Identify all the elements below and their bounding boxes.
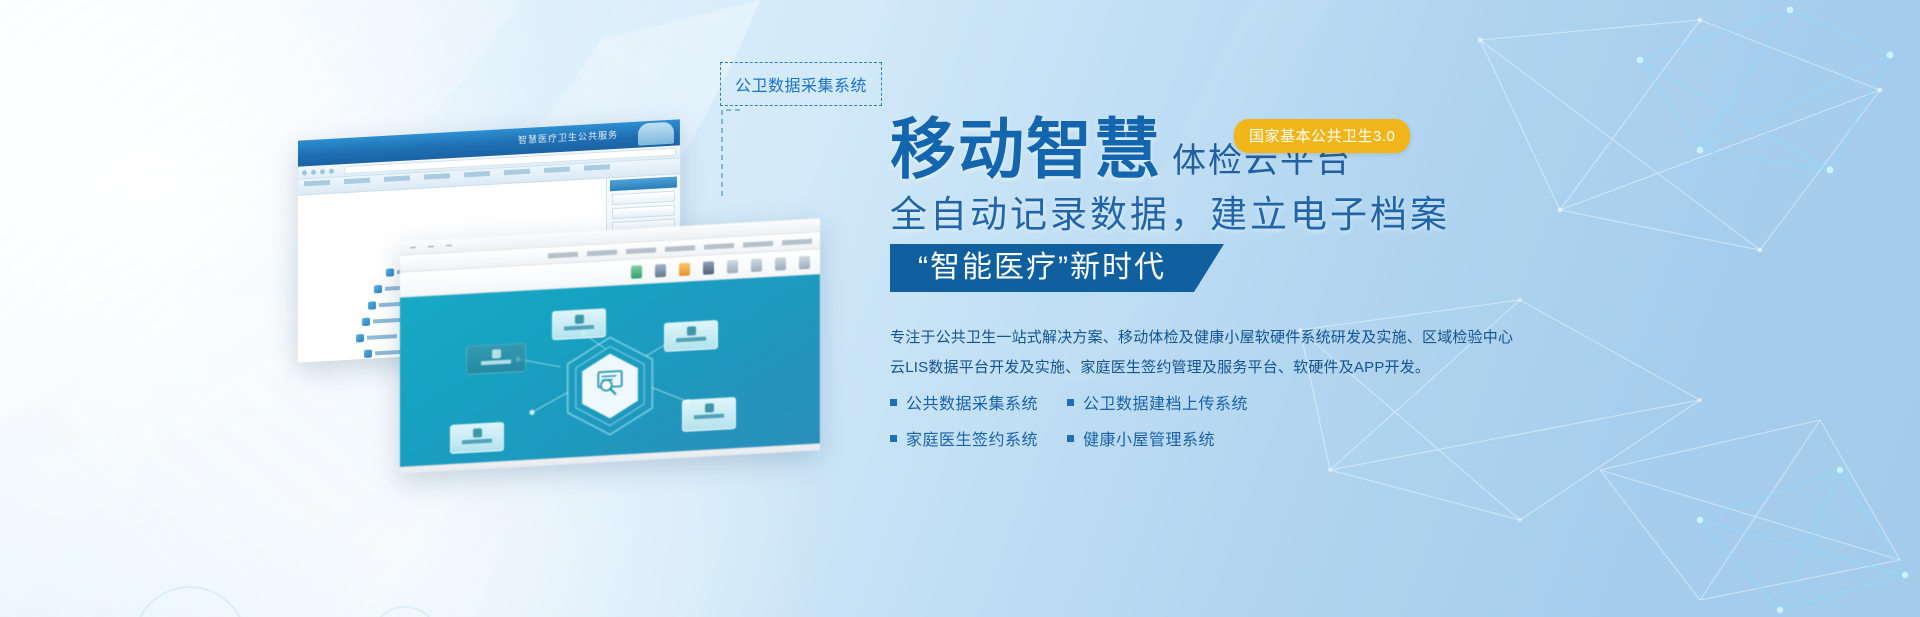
tile-icon (575, 314, 584, 324)
bullet-icon (1067, 435, 1074, 442)
back-arrow-icon (302, 170, 307, 175)
feature-label: 家庭医生签约系统 (906, 426, 1038, 450)
menu-item (464, 171, 490, 177)
sidebar-row (612, 191, 675, 206)
banner-content: 移动智慧 体检云平台 国家基本公共卫生3.0 全自动记录数据，建立电子档案 “智… (890, 0, 1890, 617)
forward-arrow-icon (311, 169, 316, 174)
headline-secondary: 全自动记录数据，建立电子档案 (890, 196, 1450, 233)
status-badge: 国家基本公共卫生3.0 (1234, 119, 1410, 153)
dashboard-tile (664, 320, 718, 352)
maximize-icon (428, 246, 434, 248)
tile-icon (687, 326, 696, 336)
tile-label (694, 414, 724, 419)
toolbar-settings-icon (775, 257, 786, 271)
description-line: 云LIS数据平台开发及实施、家庭医生签约管理及服务平台、软硬件及APP开发。 (890, 353, 1465, 383)
home-icon (329, 168, 334, 173)
toolbar-report-icon (751, 258, 762, 272)
close-icon (446, 245, 452, 247)
feature-list: 公共数据采集系统 公卫数据建档上传系统 家庭医生签约系统 健康小屋管理系统 (890, 390, 1248, 450)
toolbar-print-icon (703, 261, 714, 275)
description-line: 专注于公共卫生一站式解决方案、移动体检及健康小屋软硬件系统研发及实施、区域检验中… (890, 323, 1465, 353)
dashboard-tile (682, 397, 736, 432)
bullet-icon (890, 399, 897, 406)
minimize-icon (410, 247, 416, 249)
bullet-icon (1067, 399, 1074, 406)
tile-label (481, 360, 511, 365)
feature-item-health-record-upload[interactable]: 公卫数据建档上传系统 (1067, 390, 1248, 414)
screenshot-front-window (400, 218, 820, 473)
description-block: 专注于公共卫生一站式解决方案、移动体检及健康小屋软硬件系统研发及实施、区域检验中… (890, 323, 1465, 383)
bullet-icon (890, 435, 897, 442)
tile-icon (473, 428, 482, 438)
tab-item (704, 243, 734, 250)
diagram-node (364, 348, 405, 358)
slogan-text: “智能医疗”新时代 (918, 253, 1166, 283)
product-screenshots: 智慧医疗卫生公共服务 (280, 120, 860, 470)
toolbar-user-icon (727, 259, 738, 273)
tile-label (462, 439, 492, 444)
feature-label: 公共数据采集系统 (906, 390, 1038, 414)
toolbar-exit-icon (799, 255, 810, 269)
tab-item (626, 247, 656, 254)
back-window-avatar-image (638, 122, 674, 146)
menu-item (344, 178, 370, 184)
feature-item-family-doctor-contract[interactable]: 家庭医生签约系统 (890, 426, 1045, 450)
headline-row: 移动智慧 体检云平台 国家基本公共卫生3.0 (890, 116, 1352, 182)
sidebar-header (610, 176, 677, 191)
feature-item-health-hut-management[interactable]: 健康小屋管理系统 (1067, 426, 1248, 450)
menu-item (304, 180, 330, 186)
tab-item (665, 245, 695, 252)
dashboard-tile (466, 343, 526, 375)
menu-item (384, 175, 410, 181)
tile-icon (492, 349, 501, 359)
feature-item-public-data-collection[interactable]: 公共数据采集系统 (890, 390, 1045, 414)
tab-item (587, 249, 617, 256)
sidebar-row (612, 205, 675, 220)
headline-main: 移动智慧 (890, 116, 1162, 182)
tab-item (782, 238, 812, 245)
toolbar-tree-icon (631, 265, 642, 279)
dashboard-tile (552, 308, 606, 340)
tile-label (676, 337, 706, 342)
menu-item (424, 173, 450, 179)
menu-item (504, 169, 530, 175)
toolbar-folder-icon (679, 262, 690, 276)
feature-label: 公卫数据建档上传系统 (1083, 390, 1248, 414)
diagram-node (356, 332, 397, 342)
menu-item (584, 164, 610, 170)
callout-label: 公卫数据采集系统 (735, 72, 867, 96)
callout-box: 公卫数据采集系统 (720, 62, 882, 106)
toolbar-grid-icon (655, 263, 666, 277)
background-rings-decoration (120, 513, 460, 617)
refresh-icon (320, 169, 325, 174)
diagram-node (362, 316, 403, 326)
back-window-title: 智慧医疗卫生公共服务 (518, 128, 618, 147)
tab-item (548, 251, 578, 258)
dashboard-tile (450, 422, 504, 454)
menu-item (544, 166, 570, 172)
feature-label: 健康小屋管理系统 (1083, 426, 1215, 450)
promo-banner: 公卫数据采集系统 智慧医疗卫生公共服务 (0, 0, 1920, 617)
tile-label (564, 325, 594, 330)
tile-icon (705, 403, 714, 413)
slogan-ribbon: “智能医疗”新时代 (890, 244, 1224, 292)
tab-item (743, 240, 773, 247)
front-window-dashboard (400, 274, 820, 473)
